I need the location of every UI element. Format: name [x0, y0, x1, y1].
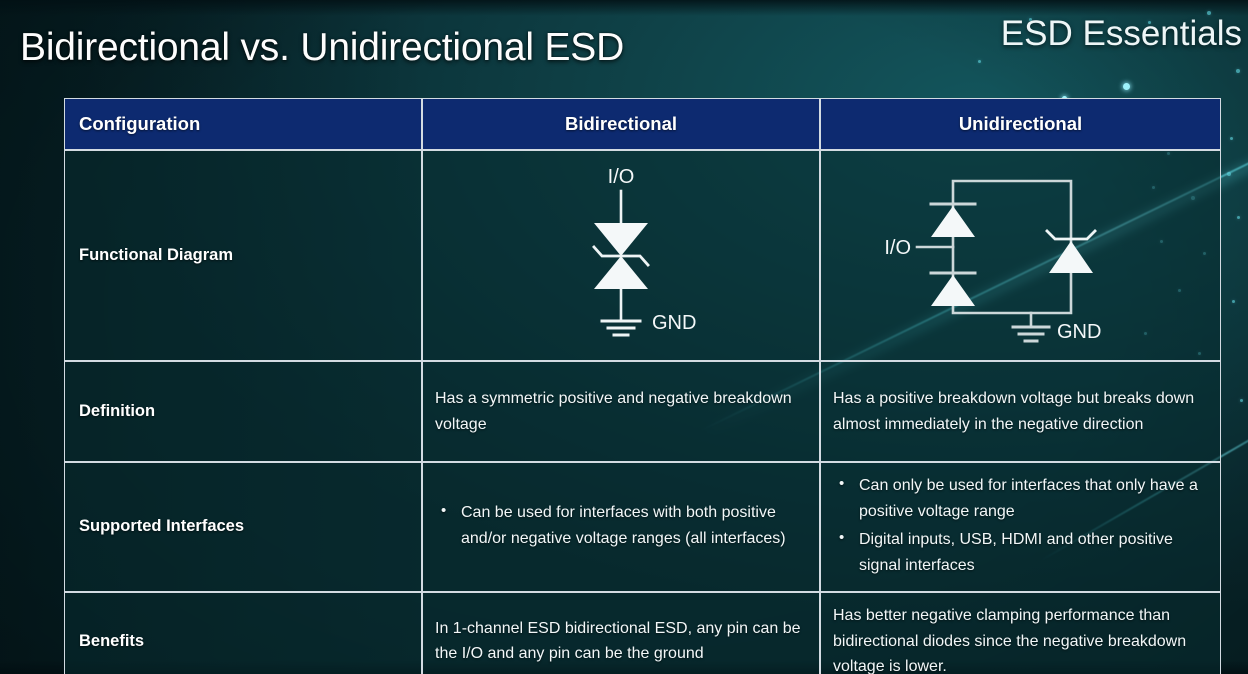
row-label-supported-interfaces: Supported Interfaces: [64, 462, 422, 592]
benefits-unidirectional: Has better negative clamping performance…: [820, 592, 1221, 674]
bidirectional-gnd-label: GND: [652, 312, 696, 334]
supported-interfaces-unidirectional: Can only be used for interfaces that onl…: [820, 462, 1221, 592]
bullet-list: Can be used for interfaces with both pos…: [435, 500, 807, 552]
benefits-bidirectional: In 1-channel ESD bidirectional ESD, any …: [422, 592, 820, 674]
row-label-functional-diagram: Functional Diagram: [64, 150, 422, 361]
diagram-cell-bidirectional: I/O GND: [422, 150, 820, 361]
column-header-unidirectional: Unidirectional: [820, 98, 1221, 150]
table-row: Supported Interfaces Can be used for int…: [64, 462, 1221, 592]
unidirectional-io-label: I/O: [884, 237, 911, 259]
table-body: Functional Diagram: [64, 150, 1221, 674]
bidirectional-io-label: I/O: [608, 166, 635, 188]
sparkle-dot: [1236, 69, 1240, 73]
sparkle-dot: [1230, 137, 1233, 140]
sparkle-dot: [1227, 172, 1231, 176]
table-row: Definition Has a symmetric positive and …: [64, 361, 1221, 462]
table-row: Functional Diagram: [64, 150, 1221, 361]
list-item: Can only be used for interfaces that onl…: [833, 473, 1208, 525]
slide-series-label: ESD Essentials: [1001, 14, 1242, 54]
row-label-benefits: Benefits: [64, 592, 422, 674]
slide-title: Bidirectional vs. Unidirectional ESD: [20, 26, 624, 70]
column-header-bidirectional: Bidirectional: [422, 98, 820, 150]
unidirectional-gnd-label: GND: [1057, 321, 1101, 343]
table-header-row: Configuration Bidirectional Unidirection…: [64, 98, 1221, 150]
list-item: Can be used for interfaces with both pos…: [435, 500, 807, 552]
row-label-definition: Definition: [64, 361, 422, 462]
sparkle-dot: [1232, 300, 1235, 303]
table-head: Configuration Bidirectional Unidirection…: [64, 98, 1221, 150]
diagram-cell-unidirectional: I/O GND: [820, 150, 1221, 361]
sparkle-dot: [1237, 216, 1240, 219]
supported-interfaces-bidirectional: Can be used for interfaces with both pos…: [422, 462, 820, 592]
definition-bidirectional: Has a symmetric positive and negative br…: [422, 361, 820, 462]
table-row: Benefits In 1-channel ESD bidirectional …: [64, 592, 1221, 674]
unidirectional-rail-clamp-icon: I/O GND: [881, 161, 1161, 351]
sparkle-dot: [1240, 399, 1243, 402]
column-header-configuration: Configuration: [64, 98, 422, 150]
comparison-table-container: Configuration Bidirectional Unidirection…: [64, 98, 1221, 662]
sparkle-dot: [1123, 83, 1130, 90]
bullet-list: Can only be used for interfaces that onl…: [833, 473, 1208, 579]
definition-unidirectional: Has a positive breakdown voltage but bre…: [820, 361, 1221, 462]
list-item: Digital inputs, USB, HDMI and other posi…: [833, 527, 1208, 579]
comparison-table: Configuration Bidirectional Unidirection…: [64, 98, 1221, 674]
bidirectional-tvs-diode-icon: I/O GND: [516, 161, 726, 351]
sparkle-dot: [978, 60, 981, 63]
